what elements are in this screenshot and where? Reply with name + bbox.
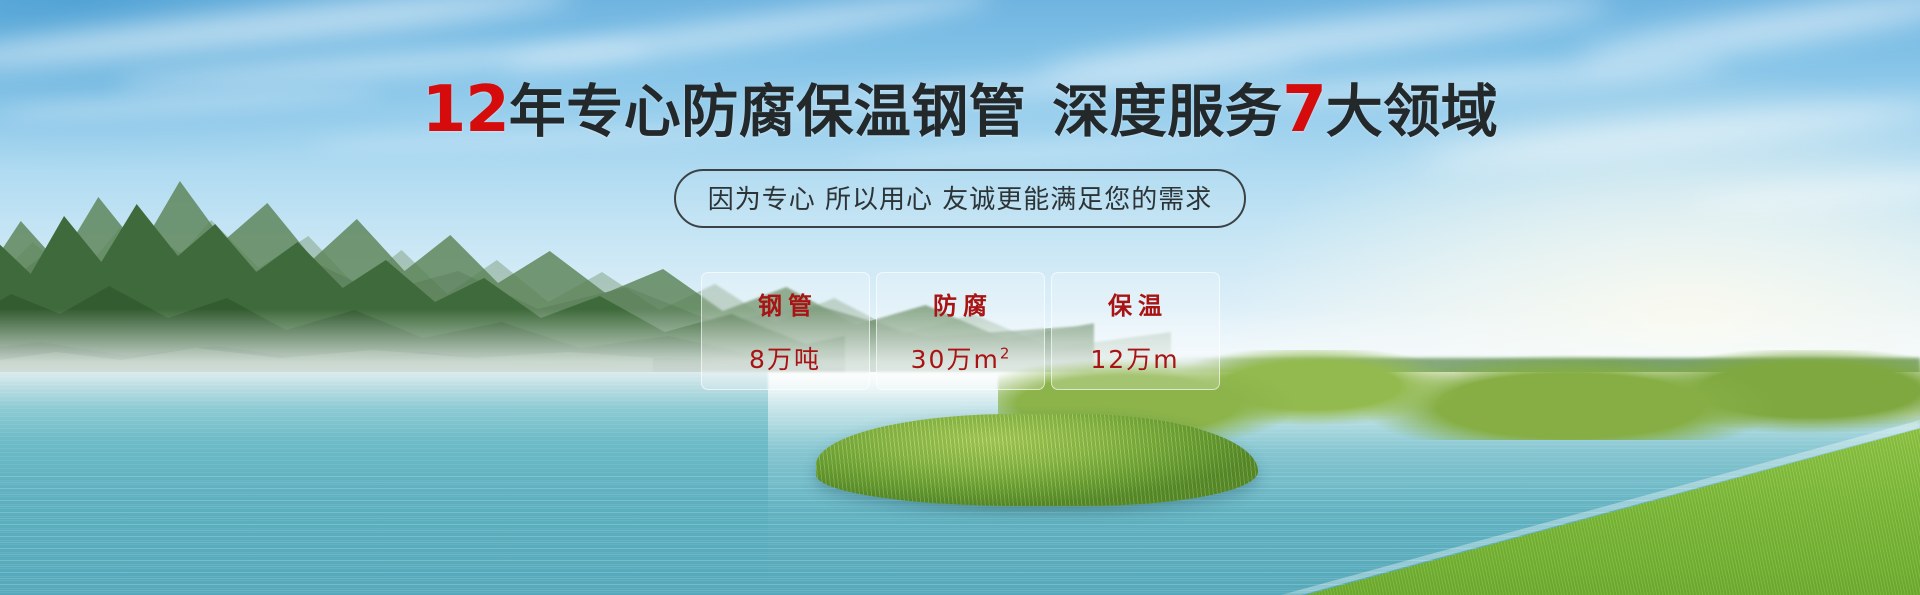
stats-card-group: 钢管 8万吨 防腐 30万m2 保温 12万m	[701, 272, 1220, 390]
headline-part-1: 年专心防腐保温钢管	[509, 79, 1027, 145]
headline-years-number: 12	[422, 73, 509, 147]
banner-subtitle-pill: 因为专心 所以用心 友诚更能满足您的需求	[674, 169, 1247, 228]
hero-banner: 12年专心防腐保温钢管深度服务7大领域 因为专心 所以用心 友诚更能满足您的需求…	[0, 0, 1920, 595]
stat-card-steel-pipe[interactable]: 钢管 8万吨	[701, 272, 870, 390]
banner-subtitle-text: 因为专心 所以用心 友诚更能满足您的需求	[708, 185, 1213, 215]
stat-value: 30万m2	[911, 340, 1010, 376]
stat-card-insulation[interactable]: 保温 12万m	[1051, 272, 1220, 390]
stat-value-base: 12万m	[1090, 345, 1179, 374]
stat-value-base: 30万m	[911, 345, 1000, 374]
headline-part-3: 大领域	[1326, 79, 1499, 145]
stat-label: 保温	[1102, 286, 1168, 321]
banner-headline: 12年专心防腐保温钢管深度服务7大领域	[422, 78, 1499, 142]
stat-value-base: 8万吨	[749, 345, 821, 374]
stat-value: 8万吨	[749, 340, 821, 376]
stat-label: 防腐	[927, 286, 993, 321]
stat-card-anticorrosion[interactable]: 防腐 30万m2	[876, 272, 1045, 390]
stat-value-superscript: 2	[1000, 345, 1010, 363]
headline-highlight-number: 7	[1282, 73, 1326, 147]
headline-part-2: 深度服务	[1052, 79, 1282, 145]
stat-value: 12万m	[1090, 340, 1179, 376]
banner-content: 12年专心防腐保温钢管深度服务7大领域 因为专心 所以用心 友诚更能满足您的需求…	[0, 0, 1920, 595]
stat-label: 钢管	[752, 286, 818, 321]
